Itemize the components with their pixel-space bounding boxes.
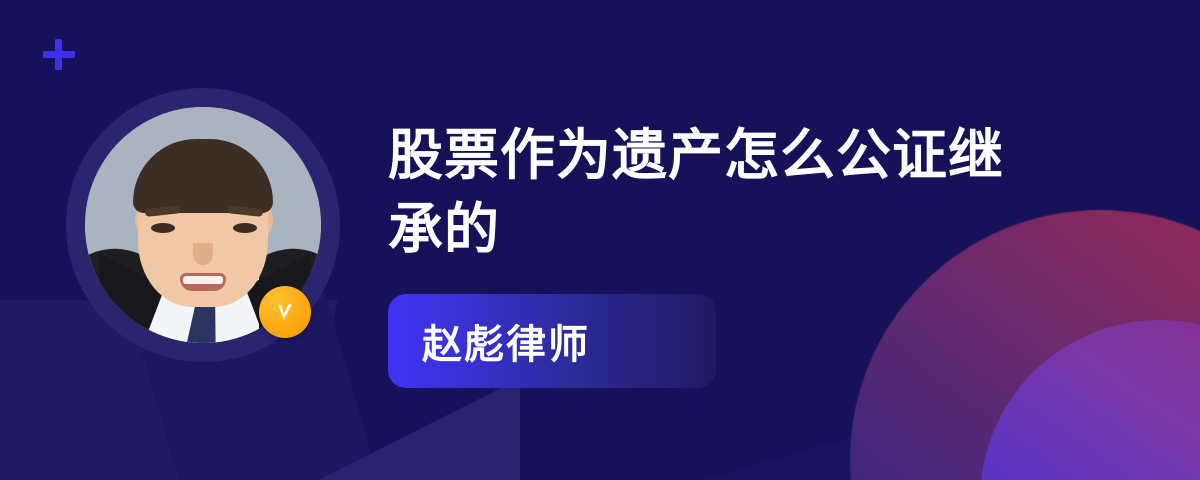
page-title: 股票作为遗产怎么公证继承的 bbox=[388, 118, 1048, 266]
portrait-mouth bbox=[180, 273, 226, 291]
lawyer-name-button[interactable]: 赵彪律师 bbox=[388, 294, 716, 388]
avatar[interactable] bbox=[66, 88, 340, 362]
content-column: 股票作为遗产怎么公证继承的 赵彪律师 bbox=[388, 118, 1178, 388]
portrait-nose bbox=[193, 243, 213, 265]
verified-badge-icon bbox=[259, 286, 311, 338]
portrait-eye-right bbox=[233, 223, 257, 233]
portrait-teeth bbox=[183, 276, 223, 284]
plus-icon bbox=[41, 36, 77, 72]
portrait-eye-left bbox=[151, 223, 175, 233]
plus-icon-bar-vertical bbox=[55, 39, 62, 70]
answer-cover-card: 股票作为遗产怎么公证继承的 赵彪律师 bbox=[0, 0, 1200, 480]
